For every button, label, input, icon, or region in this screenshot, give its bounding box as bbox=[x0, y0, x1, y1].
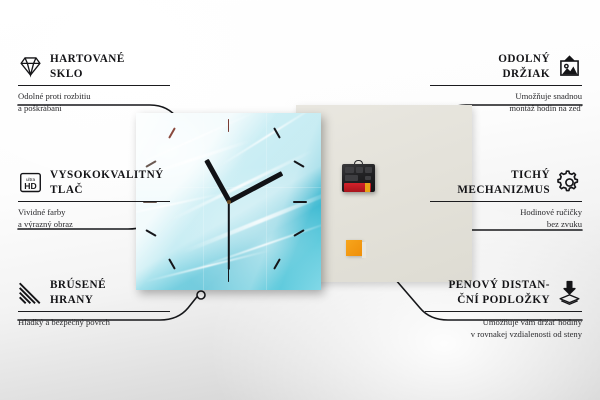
product-photo bbox=[136, 102, 472, 298]
clock-center-hub bbox=[227, 200, 231, 204]
divider bbox=[18, 85, 170, 86]
feature-high-quality-print: ultra HD VYSOKOKVALITNÝ TLAČ Vividné far… bbox=[18, 168, 170, 231]
feature-header: PENOVÝ DISTAN- ČNÍ PODLOŽKY bbox=[425, 278, 582, 307]
foam-spacer-icon bbox=[557, 280, 582, 305]
mechanism-body bbox=[342, 164, 375, 192]
clock-mechanism bbox=[342, 160, 375, 192]
feature-title: PENOVÝ DISTAN- ČNÍ PODLOŽKY bbox=[448, 278, 550, 307]
svg-text:HD: HD bbox=[24, 181, 36, 191]
ultra-hd-badge-icon: ultra HD bbox=[18, 170, 43, 195]
foam-spacer-pad bbox=[346, 240, 362, 256]
feature-beveled-edges: BRÚSENÉ HRANY Hladký a bezpečný povrch bbox=[18, 278, 170, 328]
feature-title: VYSOKOKVALITNÝ TLAČ bbox=[50, 168, 164, 197]
picture-hanger-icon bbox=[557, 54, 582, 79]
feature-tempered-glass: HARTOVANÉ SKLO Odolné proti rozbitiu a p… bbox=[18, 52, 170, 115]
feature-header: BRÚSENÉ HRANY bbox=[18, 278, 170, 307]
feature-title: BRÚSENÉ HRANY bbox=[50, 278, 106, 307]
feature-foam-spacers: PENOVÝ DISTAN- ČNÍ PODLOŽKY Umožňuje vám… bbox=[425, 278, 582, 341]
divider bbox=[430, 85, 582, 86]
divider bbox=[425, 311, 582, 312]
feature-description: Odolné proti rozbitiu a poškrábaní bbox=[18, 90, 170, 114]
feature-description: Hladký a bezpečný povrch bbox=[18, 316, 170, 328]
feature-durable-holder: ODOLNÝ DRŽIAK Umožňuje snadnou montáž ho… bbox=[430, 52, 582, 115]
infographic-canvas: HARTOVANÉ SKLO Odolné proti rozbitiu a p… bbox=[0, 0, 600, 400]
feature-header: TICHÝ MECHANIZMUS bbox=[430, 168, 582, 197]
divider bbox=[430, 201, 582, 202]
feature-description: Umožňuje snadnou montáž hodin na zeď bbox=[430, 90, 582, 114]
feature-title: ODOLNÝ DRŽIAK bbox=[498, 52, 550, 81]
feature-header: ultra HD VYSOKOKVALITNÝ TLAČ bbox=[18, 168, 170, 197]
feature-header: HARTOVANÉ SKLO bbox=[18, 52, 170, 81]
feature-description: Umožňuje vám držať hodiny v rovnakej vzd… bbox=[425, 316, 582, 340]
divider bbox=[18, 201, 170, 202]
feature-title: HARTOVANÉ SKLO bbox=[50, 52, 125, 81]
mechanism-battery bbox=[344, 183, 371, 192]
divider bbox=[18, 311, 170, 312]
gear-icon bbox=[557, 170, 582, 195]
clock-second-hand bbox=[228, 202, 230, 270]
feature-description: Vividné farby a výrazný obraz bbox=[18, 206, 170, 230]
feature-silent-mechanism: TICHÝ MECHANIZMUS Hodinové ručičky bez z… bbox=[430, 168, 582, 231]
feature-title: TICHÝ MECHANIZMUS bbox=[457, 168, 550, 197]
beveled-edges-icon bbox=[18, 280, 43, 305]
feature-header: ODOLNÝ DRŽIAK bbox=[430, 52, 582, 81]
battery-positive-terminal bbox=[365, 183, 370, 192]
diamond-icon bbox=[18, 54, 43, 79]
feature-description: Hodinové ručičky bez zvuku bbox=[430, 206, 582, 230]
